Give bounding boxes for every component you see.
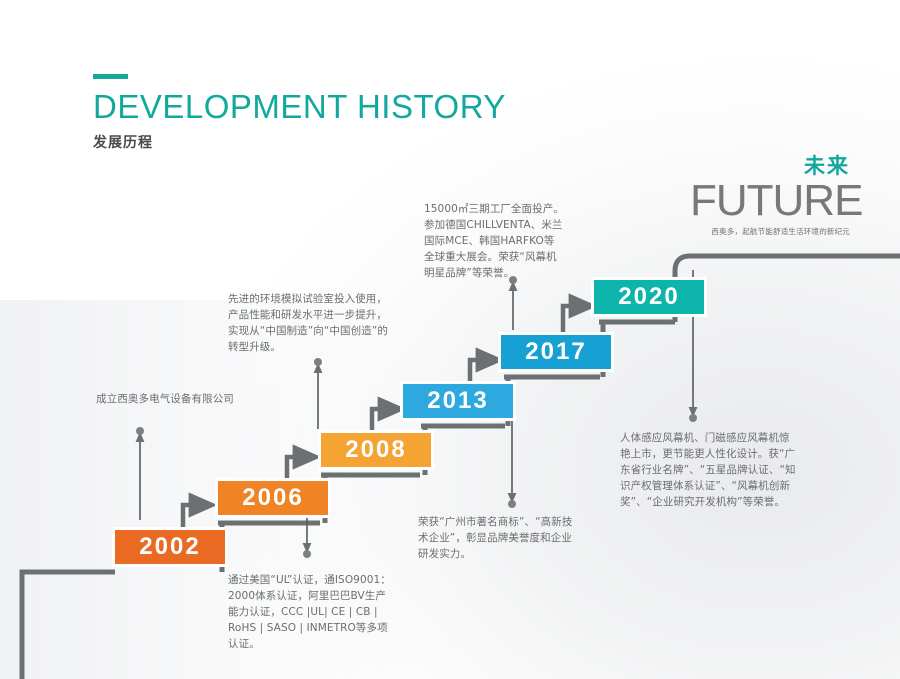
infographic-canvas: DEVELOPMENT HISTORY 发展历程 未来 FUTURE 西奥多，起… [0,0,900,679]
milestone-year-2013[interactable]: 2013 [400,381,516,421]
future-block: 未来 FUTURE 西奥多，起航节能舒适生活环境的新纪元 [690,156,850,237]
milestone-year-2008[interactable]: 2008 [318,430,434,470]
future-label-en: FUTURE [690,179,850,223]
page-header: DEVELOPMENT HISTORY 发展历程 [93,74,506,152]
milestone-note-2002: 成立西奥多电气设备有限公司 [70,391,260,407]
milestone-note-2006: 通过美国“UL”认证，通ISO9001：2000体系认证，阿里巴巴BV生产能力认… [228,572,396,652]
milestone-note-2008: 先进的环境模拟试验室投入使用，产品性能和研发水平进一步提升，实现从“中国制造”向… [228,291,396,355]
milestone-year-2020[interactable]: 2020 [591,277,707,317]
milestone-note-2013: 荣获“广州市著名商标”、“高新技术企业”，彰显品牌美誉度和企业研发实力。 [418,514,578,562]
page-title-cn: 发展历程 [93,132,506,152]
milestone-year-2017[interactable]: 2017 [498,332,614,372]
milestone-year-2006[interactable]: 2006 [215,478,331,518]
milestone-note-2020: 人体感应风幕机、门磁感应风幕机惊艳上市，更节能更人性化设计。获“广东省行业名牌”… [620,430,796,510]
future-label-cn: 未来 [690,156,850,177]
header-accent-rule [93,74,128,79]
page-title-en: DEVELOPMENT HISTORY [93,90,506,123]
future-tagline: 西奥多，起航节能舒适生活环境的新纪元 [690,226,850,237]
milestone-year-2002[interactable]: 2002 [112,527,228,567]
milestone-note-2017: 15000㎡三期工厂全面投产。参加德国CHILLVENTA、米兰国际MCE、韩国… [424,201,564,281]
